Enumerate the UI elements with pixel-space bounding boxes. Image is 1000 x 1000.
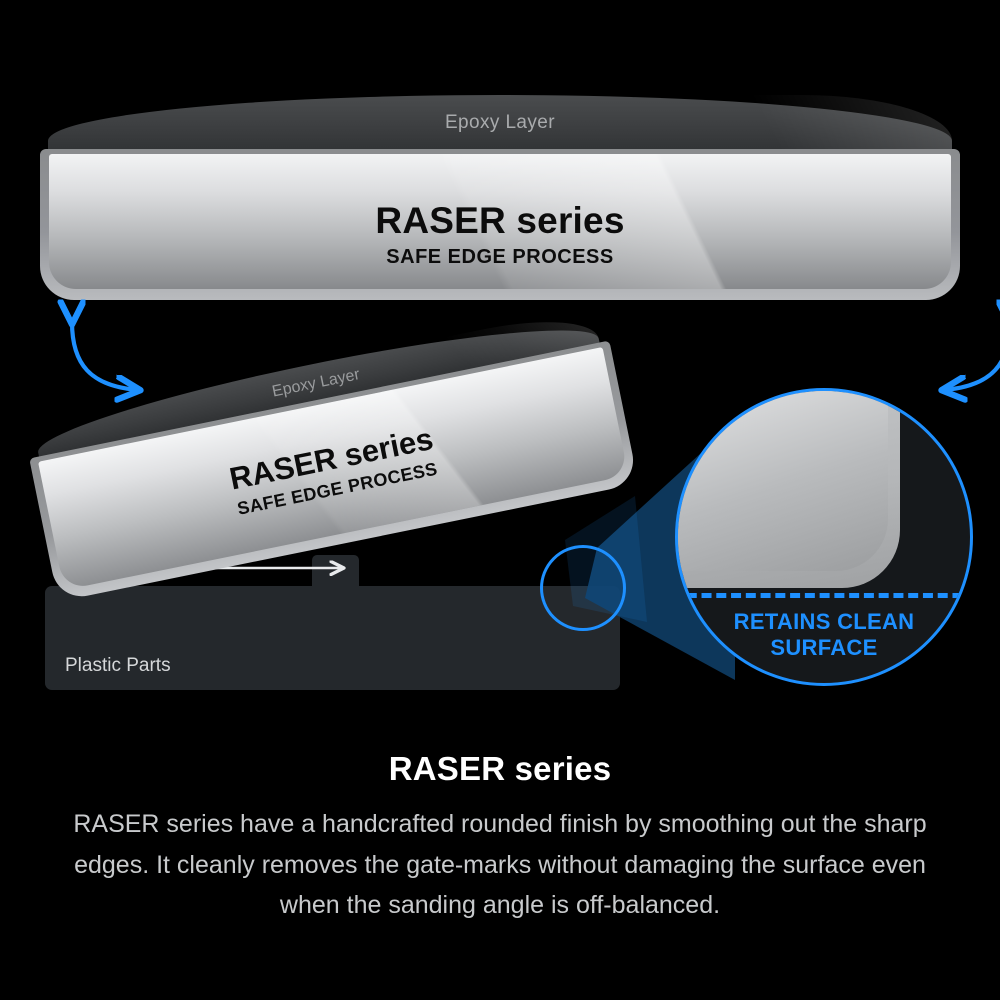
front-view-diagram: Epoxy Layer RASER series SAFE EDGE PROCE… bbox=[40, 95, 960, 300]
caption-block: RASER series RASER series have a handcra… bbox=[60, 750, 940, 926]
magnified-caption-line-1: RETAINS CLEAN bbox=[678, 609, 970, 635]
magnified-detail-circle: RETAINS CLEAN SURFACE bbox=[675, 388, 973, 686]
magnified-dashed-baseline bbox=[675, 593, 973, 598]
front-panel-subtitle: SAFE EDGE PROCESS bbox=[49, 246, 951, 269]
magnified-corner-face bbox=[675, 388, 888, 571]
magnified-caption-line-2: SURFACE bbox=[678, 635, 970, 661]
detail-focus-circle bbox=[540, 545, 626, 631]
caption-title: RASER series bbox=[60, 750, 940, 788]
magnified-detail-content: RETAINS CLEAN SURFACE bbox=[678, 391, 970, 683]
front-panel-text: RASER series SAFE EDGE PROCESS bbox=[49, 202, 951, 269]
front-panel-face: RASER series SAFE EDGE PROCESS bbox=[49, 154, 951, 289]
magnified-corner-frame bbox=[675, 388, 900, 588]
plastic-parts-label: Plastic Parts bbox=[65, 655, 171, 677]
magnified-caption: RETAINS CLEAN SURFACE bbox=[678, 609, 970, 662]
infographic-canvas: Epoxy Layer RASER series SAFE EDGE PROCE… bbox=[0, 0, 1000, 1000]
front-panel-title: RASER series bbox=[49, 202, 951, 241]
front-epoxy-label: Epoxy Layer bbox=[48, 112, 952, 134]
curved-double-arrow-left-icon bbox=[42, 308, 152, 408]
caption-body: RASER series have a handcrafted rounded … bbox=[60, 804, 940, 926]
front-panel-frame: RASER series SAFE EDGE PROCESS bbox=[40, 149, 960, 300]
